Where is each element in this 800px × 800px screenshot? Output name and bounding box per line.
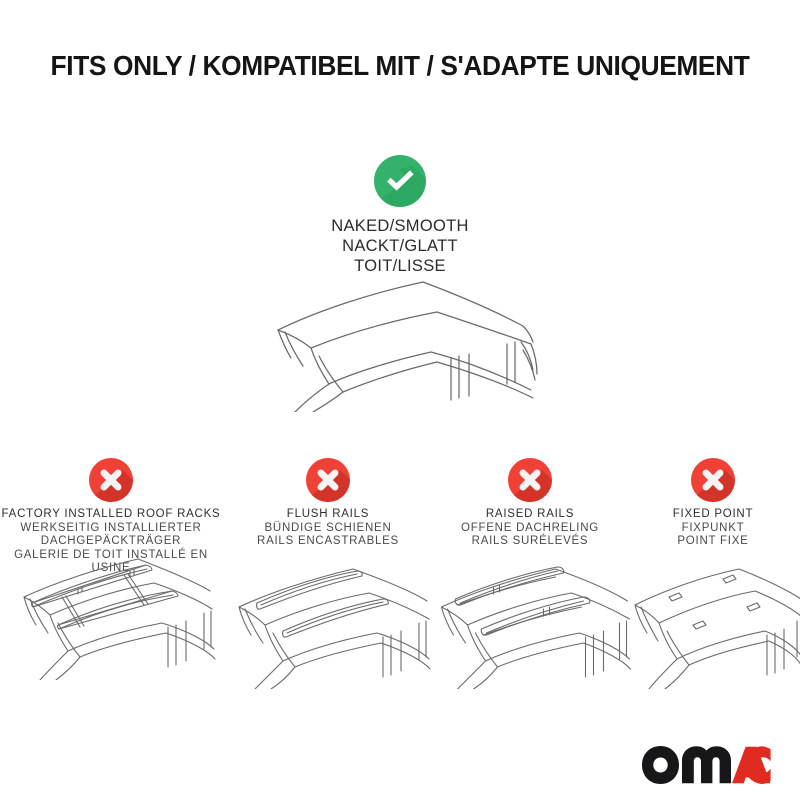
compatible-labels: NAKED/SMOOTH NACKT/GLATT TOIT/LISSE xyxy=(0,216,800,276)
incompatible-labels: FIXED POINT FIXPUNKT POINT FIXE xyxy=(626,508,800,549)
cross-circle-icon xyxy=(306,458,350,502)
compatible-label-line-1: NAKED/SMOOTH xyxy=(0,216,800,236)
cross-circle-icon xyxy=(691,458,735,502)
incompatible-labels: RAISED RAILS OFFENE DACHRELING RAILS SUR… xyxy=(434,508,626,549)
incompatible-label-line-1: FACTORY INSTALLED ROOF RACKS xyxy=(0,508,222,522)
incompatible-item-flush-rails: FLUSH RAILS BÜNDIGE SCHIENEN RAILS ENCAS… xyxy=(222,455,434,549)
car-roof-raised-rails-illustration xyxy=(428,559,633,689)
car-roof-fixed-point-illustration xyxy=(623,559,800,689)
cross-circle-icon xyxy=(89,458,133,502)
check-circle-icon xyxy=(374,155,426,207)
car-roof-factory-racks-illustration xyxy=(6,545,216,680)
incompatible-item-factory-racks: FACTORY INSTALLED ROOF RACKS WERKSEITIG … xyxy=(0,455,222,576)
incompatible-label-line-1: FIXED POINT xyxy=(626,508,800,522)
incompatible-label-line-2: FIXPUNKT xyxy=(626,522,800,536)
fitment-infographic: FITS ONLY / KOMPATIBEL MIT / S'ADAPTE UN… xyxy=(0,0,800,800)
incompatible-label-line-2: WERKSEITIG INSTALLIERTER xyxy=(0,522,222,536)
page-title: FITS ONLY / KOMPATIBEL MIT / S'ADAPTE UN… xyxy=(24,50,776,82)
incompatible-label-line-3: POINT FIXE xyxy=(626,535,800,549)
incompatible-label-line-3: RAILS ENCASTRABLES xyxy=(222,535,434,549)
car-roof-naked-smooth-illustration xyxy=(255,272,555,412)
incompatible-item-raised-rails: RAISED RAILS OFFENE DACHRELING RAILS SUR… xyxy=(434,455,626,549)
compatible-label-line-2: NACKT/GLATT xyxy=(0,236,800,256)
incompatible-label-line-2: OFFENE DACHRELING xyxy=(434,522,626,536)
cross-circle-icon xyxy=(508,458,552,502)
incompatible-label-line-1: RAISED RAILS xyxy=(434,508,626,522)
incompatible-row: FACTORY INSTALLED ROOF RACKS WERKSEITIG … xyxy=(0,455,800,705)
incompatible-label-line-1: FLUSH RAILS xyxy=(222,508,434,522)
incompatible-label-line-3: RAILS SURÉLEVÉS xyxy=(434,535,626,549)
incompatible-labels: FLUSH RAILS BÜNDIGE SCHIENEN RAILS ENCAS… xyxy=(222,508,434,549)
incompatible-item-fixed-point: FIXED POINT FIXPUNKT POINT FIXE xyxy=(626,455,800,549)
incompatible-label-line-2: BÜNDIGE SCHIENEN xyxy=(222,522,434,536)
omac-logo: OMAC xyxy=(640,744,772,786)
compatible-section: NAKED/SMOOTH NACKT/GLATT TOIT/LISSE xyxy=(0,155,800,276)
car-roof-flush-rails-illustration xyxy=(223,559,433,689)
